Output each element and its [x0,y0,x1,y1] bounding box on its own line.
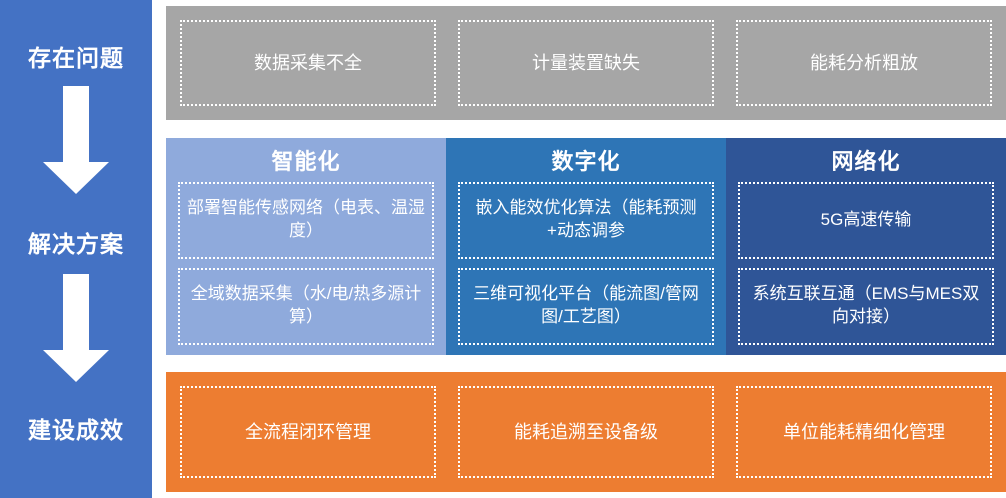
solution-column-title: 数字化 [458,144,714,182]
solution-column-title: 网络化 [738,144,994,182]
solution-item: 嵌入能效优化算法（能耗预测+动态调参 [458,182,714,259]
problem-card: 数据采集不全 [180,20,436,106]
solution-column-title: 智能化 [178,144,434,182]
solution-item: 5G高速传输 [738,182,994,259]
problems-band: 数据采集不全 计量装置缺失 能耗分析粗放 [166,6,1006,120]
solution-item: 部署智能传感网络（电表、温湿度） [178,182,434,259]
down-arrow-icon-1 [43,86,109,194]
solution-item: 全域数据采集（水/电/热多源计算） [178,268,434,345]
results-band: 全流程闭环管理 能耗追溯至设备级 单位能耗精细化管理 [166,372,1006,492]
stage-label-problems: 存在问题 [0,46,152,71]
stage-label-results: 建设成效 [0,418,152,443]
stage-label-solutions: 解决方案 [0,232,152,257]
arrow-shaft [63,86,89,164]
arrow-shaft [63,274,89,352]
problems-card-row: 数据采集不全 计量装置缺失 能耗分析粗放 [166,6,1006,120]
result-card: 能耗追溯至设备级 [458,386,714,478]
result-card: 全流程闭环管理 [180,386,436,478]
problem-card: 能耗分析粗放 [736,20,992,106]
arrow-head [43,350,109,382]
solution-column-networked: 网络化 5G高速传输 系统互联互通（EMS与MES双向对接） [726,138,1006,355]
result-card: 单位能耗精细化管理 [736,386,992,478]
stage-rail: 存在问题 解决方案 建设成效 [0,0,152,498]
energy-management-roadmap-diagram: 存在问题 解决方案 建设成效 数据采集不全 计量装置缺失 能耗分析粗放 智能化 … [0,0,1006,498]
arrow-head [43,162,109,194]
solution-item: 三维可视化平台（能流图/管网图/工艺图） [458,268,714,345]
solution-column-intelligent: 智能化 部署智能传感网络（电表、温湿度） 全域数据采集（水/电/热多源计算） [166,138,446,355]
down-arrow-icon-2 [43,274,109,382]
solution-column-digital: 数字化 嵌入能效优化算法（能耗预测+动态调参 三维可视化平台（能流图/管网图/工… [446,138,726,355]
problem-card: 计量装置缺失 [458,20,714,106]
solutions-band: 智能化 部署智能传感网络（电表、温湿度） 全域数据采集（水/电/热多源计算） 数… [166,138,1006,355]
solution-item: 系统互联互通（EMS与MES双向对接） [738,268,994,345]
results-card-row: 全流程闭环管理 能耗追溯至设备级 单位能耗精细化管理 [166,372,1006,492]
